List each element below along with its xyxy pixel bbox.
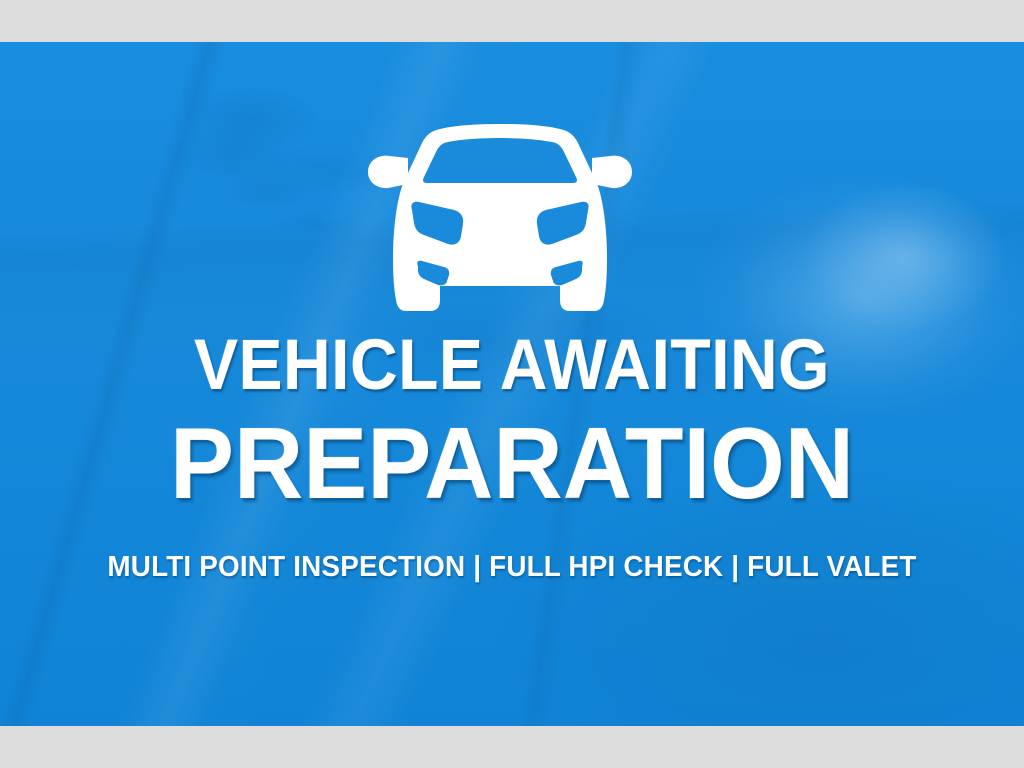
vehicle-preparation-banner: VEHICLE AWAITING PREPARATION MULTI POINT… — [0, 42, 1024, 726]
page-title-line-1: VEHICLE AWAITING — [36, 330, 988, 401]
top-letterbox-bar — [0, 0, 1024, 42]
services-subtitle: MULTI POINT INSPECTION | FULL HPI CHECK … — [20, 553, 1003, 582]
placeholder-image-stage: VEHICLE AWAITING PREPARATION MULTI POINT… — [0, 0, 1024, 768]
car-front-icon — [368, 118, 632, 320]
page-title-line-2: PREPARATION — [26, 414, 999, 515]
bottom-letterbox-bar — [0, 726, 1024, 768]
